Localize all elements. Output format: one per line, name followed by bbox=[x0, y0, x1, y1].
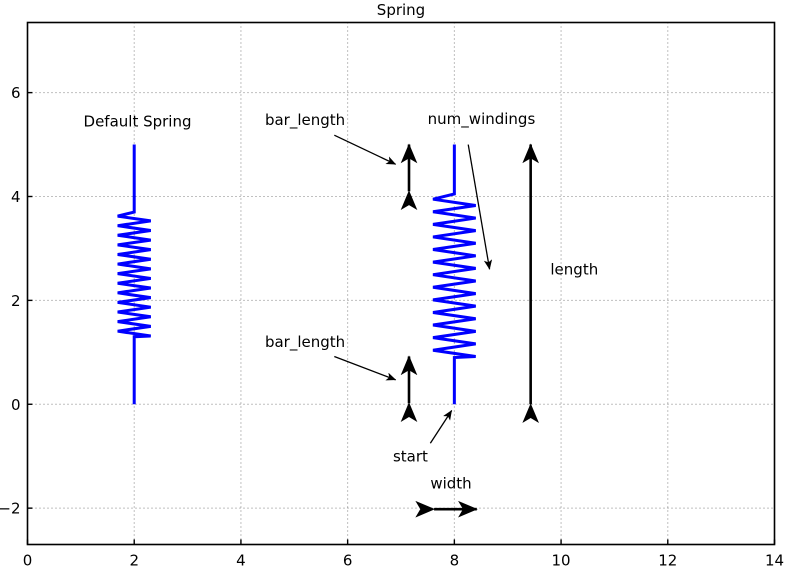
annotation-num-windings-label: num_windings bbox=[428, 110, 536, 129]
x-tick-label: 14 bbox=[765, 552, 784, 570]
x-tick-label: 10 bbox=[552, 552, 571, 570]
annotation-start-label: start bbox=[393, 447, 428, 465]
annotation-bar-length-bottom-label: bar_length bbox=[265, 333, 345, 352]
figure-canvas: 02468101214−20246 Default Springbar_leng… bbox=[0, 0, 788, 577]
annotation-length-label: length bbox=[550, 260, 598, 278]
y-tick-label: 4 bbox=[11, 188, 21, 206]
x-tick-label: 2 bbox=[129, 552, 139, 570]
x-tick-label: 8 bbox=[450, 552, 460, 570]
annotation-default-spring-label: Default Spring bbox=[84, 112, 192, 130]
x-tick-label: 12 bbox=[658, 552, 677, 570]
x-tick-label: 0 bbox=[23, 552, 33, 570]
annotation-bar-length-top-label: bar_length bbox=[265, 111, 345, 130]
page-title: Spring bbox=[377, 1, 425, 19]
y-tick-label: 2 bbox=[11, 292, 21, 310]
y-tick-label: 0 bbox=[11, 396, 21, 414]
annotation-width-label: width bbox=[430, 474, 471, 492]
spring-plot-svg: 02468101214−20246 Default Springbar_leng… bbox=[0, 0, 788, 577]
x-tick-label: 4 bbox=[236, 552, 246, 570]
figure-background bbox=[0, 0, 788, 577]
y-tick-label: 6 bbox=[11, 84, 21, 102]
y-tick-label: −2 bbox=[0, 500, 21, 518]
x-tick-label: 6 bbox=[343, 552, 353, 570]
